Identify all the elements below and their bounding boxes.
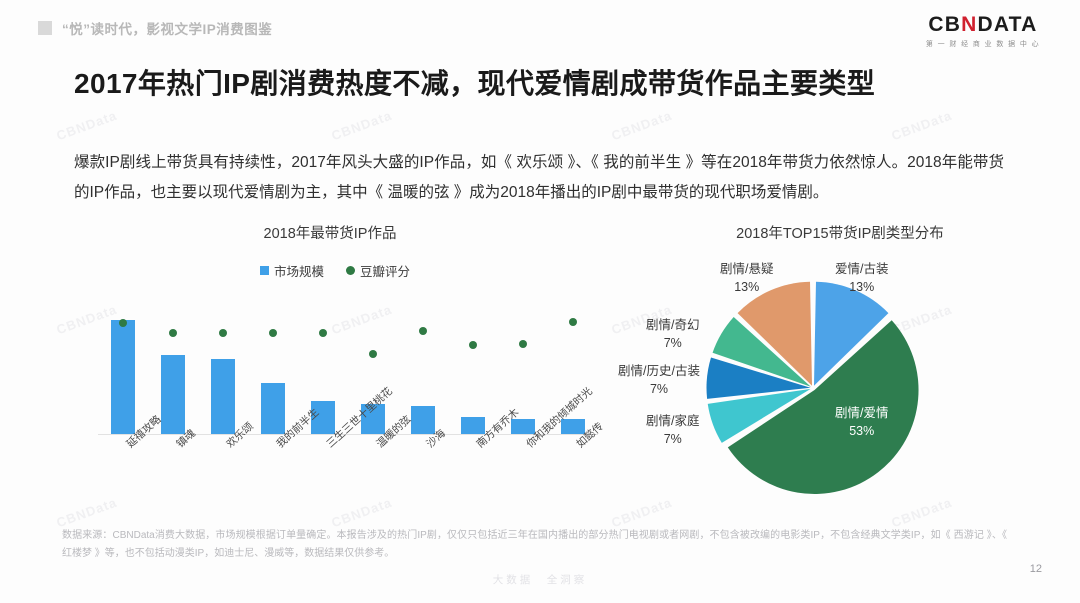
bar-x-axis-labels: 延禧攻略镇魂欢乐颂我的前半生三生三世十里桃花温暖的弦沙海南方有乔木你和我的倾城时…: [98, 438, 598, 508]
bar: [161, 355, 185, 436]
legend-item-douban-score: 豆瓣评分: [346, 261, 410, 280]
page-number: 12: [1030, 563, 1042, 575]
score-dot: [419, 327, 427, 335]
legend-label: 豆瓣评分: [360, 261, 410, 280]
pie-chart: 2018年TOP15带货IP剧类型分布 剧情/悬疑 13% 爱情/古装 13% …: [630, 222, 1050, 512]
body-paragraph: 爆款IP剧线上带货具有持续性，2017年风头大盛的IP作品，如《 欢乐颂 》、《…: [74, 148, 1004, 208]
x-label: 欢乐颂: [198, 438, 248, 508]
x-label: 温暖的弦: [348, 438, 398, 508]
bar-column: [248, 280, 298, 435]
pie-label-drama-history-costume: 剧情/历史/古装 7%: [618, 362, 700, 398]
x-label: 沙海: [398, 438, 448, 508]
legend-label: 市场规模: [274, 261, 324, 280]
cbndata-logo: CBNDATA 第 一 财 经 商 业 数 据 中 心: [926, 14, 1040, 49]
pie-label-romance-costume: 爱情/古装 13%: [835, 260, 888, 296]
x-label: 我的前半生: [248, 438, 298, 508]
x-label: 如懿传: [548, 438, 598, 508]
bar-columns: [98, 280, 598, 435]
score-dot: [169, 329, 177, 337]
bar-chart-title: 2018年最带货IP作品: [40, 222, 620, 243]
pie-label-drama-suspense: 剧情/悬疑 13%: [720, 260, 773, 296]
watermark: CBNData: [54, 108, 119, 144]
x-label: 南方有乔木: [448, 438, 498, 508]
legend-square-icon: [260, 266, 269, 275]
bar-plot-area: [98, 280, 598, 435]
slide-canvas: CBNData CBNData CBNData CBNData CBNData …: [0, 0, 1080, 603]
watermark: CBNData: [609, 108, 674, 144]
source-note: 数据来源：CBNData消费大数据，市场规模根据订单量确定。本报告涉及的热门IP…: [62, 527, 1007, 562]
score-dot: [319, 329, 327, 337]
bar-column: [198, 280, 248, 435]
bar-chart: 2018年最带货IP作品 市场规模 豆瓣评分 延禧攻略镇魂欢乐颂我的前半生三生三…: [60, 222, 620, 512]
bar-column: [98, 280, 148, 435]
x-label: 三生三世十里桃花: [298, 438, 348, 508]
logo-part-1: CB: [928, 13, 961, 36]
logo-part-2: DATA: [977, 13, 1037, 36]
score-dot: [569, 318, 577, 326]
pie-label-drama-romance: 剧情/爱情 53%: [835, 404, 888, 440]
header-kicker: “悦”读时代，影视文学IP消费图鉴: [38, 18, 272, 38]
bar-column: [398, 280, 448, 435]
pie-plot-area: [688, 270, 938, 500]
bar-column: [148, 280, 198, 435]
score-dot: [369, 350, 377, 358]
pie-svg: [688, 270, 938, 500]
bullet-square-icon: [38, 21, 52, 35]
x-label: 镇魂: [148, 438, 198, 508]
legend-dot-icon: [346, 266, 355, 275]
pie-label-drama-fantasy: 剧情/奇幻 7%: [646, 316, 699, 352]
bar: [211, 359, 235, 435]
x-label: 延禧攻略: [98, 438, 148, 508]
pie-label-drama-family: 剧情/家庭 7%: [646, 412, 699, 448]
score-dot: [469, 341, 477, 349]
footer-brand: 大数据 全洞察: [0, 572, 1080, 587]
bar-column: [448, 280, 498, 435]
bar: [261, 383, 285, 435]
x-label: 你和我的倾城时光: [498, 438, 548, 508]
bar-chart-legend: 市场规模 豆瓣评分: [50, 261, 620, 280]
legend-item-market-scale: 市场规模: [260, 261, 324, 280]
logo-part-n: N: [961, 13, 977, 36]
logo-wordmark: CBNDATA: [926, 14, 1040, 35]
score-dot: [519, 340, 527, 348]
pie-chart-title: 2018年TOP15带货IP剧类型分布: [630, 222, 1050, 243]
score-dot: [269, 329, 277, 337]
logo-subtitle: 第 一 财 经 商 业 数 据 中 心: [926, 39, 1040, 49]
watermark: CBNData: [329, 108, 394, 144]
bar: [111, 320, 135, 435]
page-title: 2017年热门IP剧消费热度不减，现代爱情剧成带货作品主要类型: [74, 62, 875, 102]
kicker-label: “悦”读时代，影视文学IP消费图鉴: [62, 18, 272, 38]
score-dot: [219, 329, 227, 337]
watermark: CBNData: [889, 108, 954, 144]
